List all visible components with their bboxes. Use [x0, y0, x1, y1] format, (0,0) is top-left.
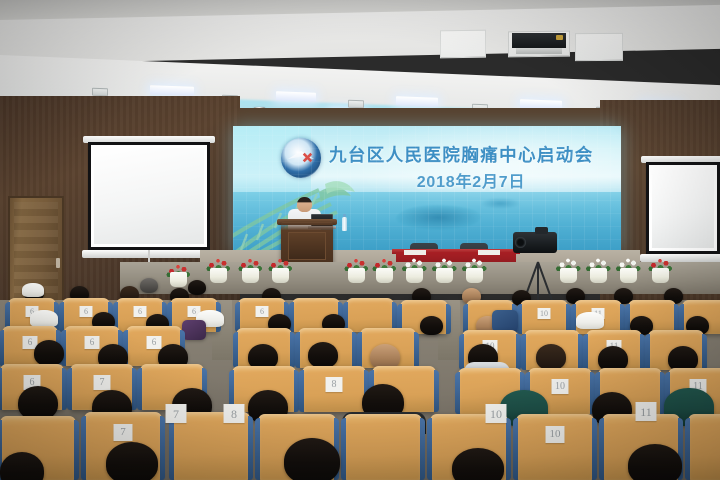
flower-pot — [620, 268, 637, 283]
auditorium-seat[interactable] — [346, 298, 394, 332]
ceiling-led-panel — [150, 85, 194, 96]
table-document — [404, 250, 426, 255]
seat-number: 8 — [224, 404, 245, 423]
seat-number: 6 — [256, 306, 269, 317]
attendee-head — [420, 316, 443, 335]
slide-title: 九台区人民医院胸痛中心启动会 — [329, 142, 613, 167]
backpack — [182, 320, 206, 340]
led-island-shape — [396, 205, 481, 230]
seat-number: 6 — [85, 336, 100, 349]
flower-pot — [652, 268, 669, 283]
seat-number: 10 — [546, 426, 565, 443]
auditorium-photo: 九台区人民医院胸痛中心启动会 2018年2月7日 — [0, 0, 720, 480]
attendee-head — [628, 444, 682, 480]
attendee-head — [284, 438, 340, 480]
flower-pot — [376, 268, 393, 283]
hospital-emblem-logo — [281, 138, 321, 178]
flower-pot — [590, 268, 607, 283]
seat-number: 6 — [80, 306, 93, 317]
attendee-head — [34, 340, 64, 366]
screen-frame — [646, 162, 720, 254]
seat-number: 6 — [147, 336, 162, 349]
auditorium-seat[interactable]: 10 — [520, 300, 568, 334]
backpack — [492, 310, 518, 332]
presenter-head — [297, 197, 312, 212]
ceiling-vent — [348, 100, 364, 109]
attendee-head — [308, 342, 338, 368]
nurse-cap — [576, 312, 604, 329]
attendee-head — [188, 280, 206, 295]
flower-pot — [466, 268, 483, 283]
seat-number: 7 — [94, 375, 111, 390]
screen-surface — [652, 168, 714, 248]
seat-number: 11 — [636, 402, 657, 421]
seat-number: 8 — [326, 377, 343, 392]
attendee-head — [140, 278, 158, 293]
auditorium-seat[interactable] — [688, 414, 720, 480]
projector-lens-icon — [556, 35, 563, 40]
slide-date: 2018年2月7日 — [329, 168, 613, 192]
nurse-cap — [22, 283, 44, 297]
door-handle-icon[interactable] — [56, 258, 60, 268]
flower-pot — [436, 268, 453, 283]
auditorium-seat[interactable]: 8 — [302, 366, 366, 412]
projection-screen-left — [88, 142, 210, 250]
nurse-cap — [30, 310, 58, 327]
attendee-head — [18, 386, 58, 420]
attendee-head — [106, 442, 158, 480]
flower-pot — [406, 268, 423, 283]
ceiling-led-panel — [396, 96, 438, 107]
water-bottle — [342, 217, 347, 231]
seat-number: 10 — [538, 308, 551, 319]
ceiling-access-panel — [440, 30, 486, 59]
attendee-head — [536, 344, 566, 370]
auditorium-seat[interactable]: 10 — [516, 414, 594, 480]
table-document — [478, 250, 500, 255]
projector-mount — [516, 48, 562, 54]
video-camera — [513, 232, 557, 253]
seat-number: 7 — [166, 404, 187, 423]
attendee-head — [452, 448, 504, 480]
seat-number: 7 — [114, 424, 133, 441]
screen-frame — [88, 142, 210, 250]
flower-pot — [242, 268, 259, 283]
ceiling-led-panel — [276, 91, 316, 102]
flower-pot — [272, 268, 289, 283]
flower-pot — [170, 272, 187, 287]
seat-number: 10 — [486, 404, 507, 423]
flower-pot — [348, 268, 365, 283]
auditorium-seat[interactable] — [344, 414, 422, 480]
lectern-front-panel — [288, 232, 326, 260]
projection-screen-right — [646, 162, 720, 254]
ceiling-access-panel — [575, 33, 623, 61]
seat-number: 10 — [552, 379, 569, 394]
flower-pot — [560, 268, 577, 283]
screen-surface — [94, 148, 204, 244]
led-island-shape — [481, 198, 520, 208]
seat-number: 6 — [134, 306, 147, 317]
flower-pot — [210, 268, 227, 283]
ceiling-vent — [92, 88, 108, 97]
